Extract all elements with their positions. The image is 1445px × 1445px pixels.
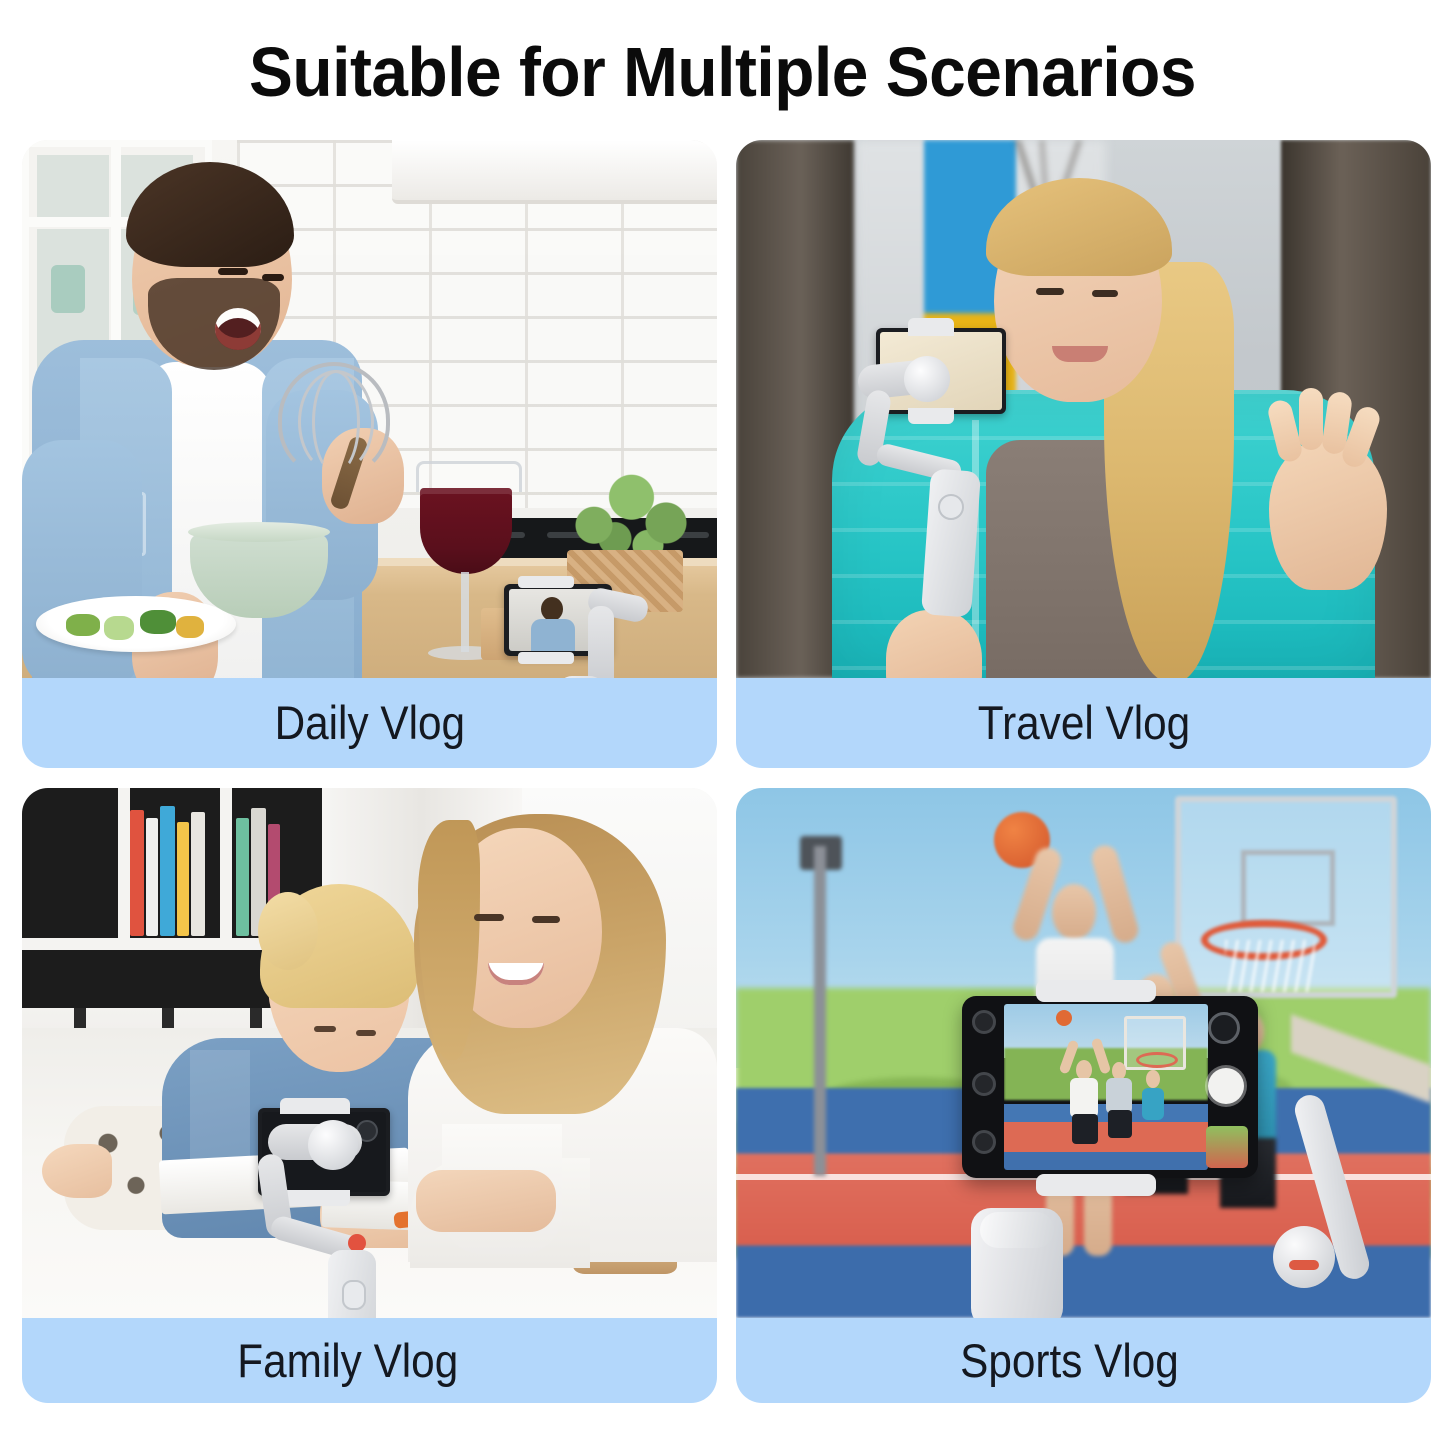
scenario-card-sports-vlog[interactable]: Sports Vlog <box>736 788 1431 1403</box>
card-label-daily-vlog: Daily Vlog <box>22 678 717 768</box>
photo-travel-vlog <box>736 140 1431 678</box>
label-text: Sports Vlog <box>960 1336 1179 1386</box>
page-title: Suitable for Multiple Scenarios <box>43 34 1401 110</box>
photo-family-vlog <box>22 788 717 1318</box>
label-text: Daily Vlog <box>274 698 464 748</box>
scenario-card-travel-vlog[interactable]: Travel Vlog <box>736 140 1431 768</box>
camera-switch-icon <box>1208 1012 1240 1044</box>
gallery-thumbnail[interactable] <box>1206 1126 1248 1168</box>
phone-camera-preview <box>1004 1004 1208 1170</box>
photo-daily-vlog <box>22 140 717 678</box>
infographic-page: Suitable for Multiple Scenarios <box>0 0 1445 1445</box>
label-text: Travel Vlog <box>977 698 1189 748</box>
photo-sports-vlog <box>736 788 1431 1318</box>
shutter-button[interactable] <box>1208 1068 1244 1104</box>
scenario-card-grid: Daily Vlog <box>22 140 1423 1403</box>
scenario-card-family-vlog[interactable]: Family Vlog <box>22 788 717 1403</box>
scenario-card-daily-vlog[interactable]: Daily Vlog <box>22 140 717 768</box>
card-label-family-vlog: Family Vlog <box>22 1318 717 1403</box>
phone-on-gimbal <box>962 996 1258 1178</box>
card-label-sports-vlog: Sports Vlog <box>736 1318 1431 1403</box>
label-text: Family Vlog <box>237 1336 458 1386</box>
card-label-travel-vlog: Travel Vlog <box>736 678 1431 768</box>
